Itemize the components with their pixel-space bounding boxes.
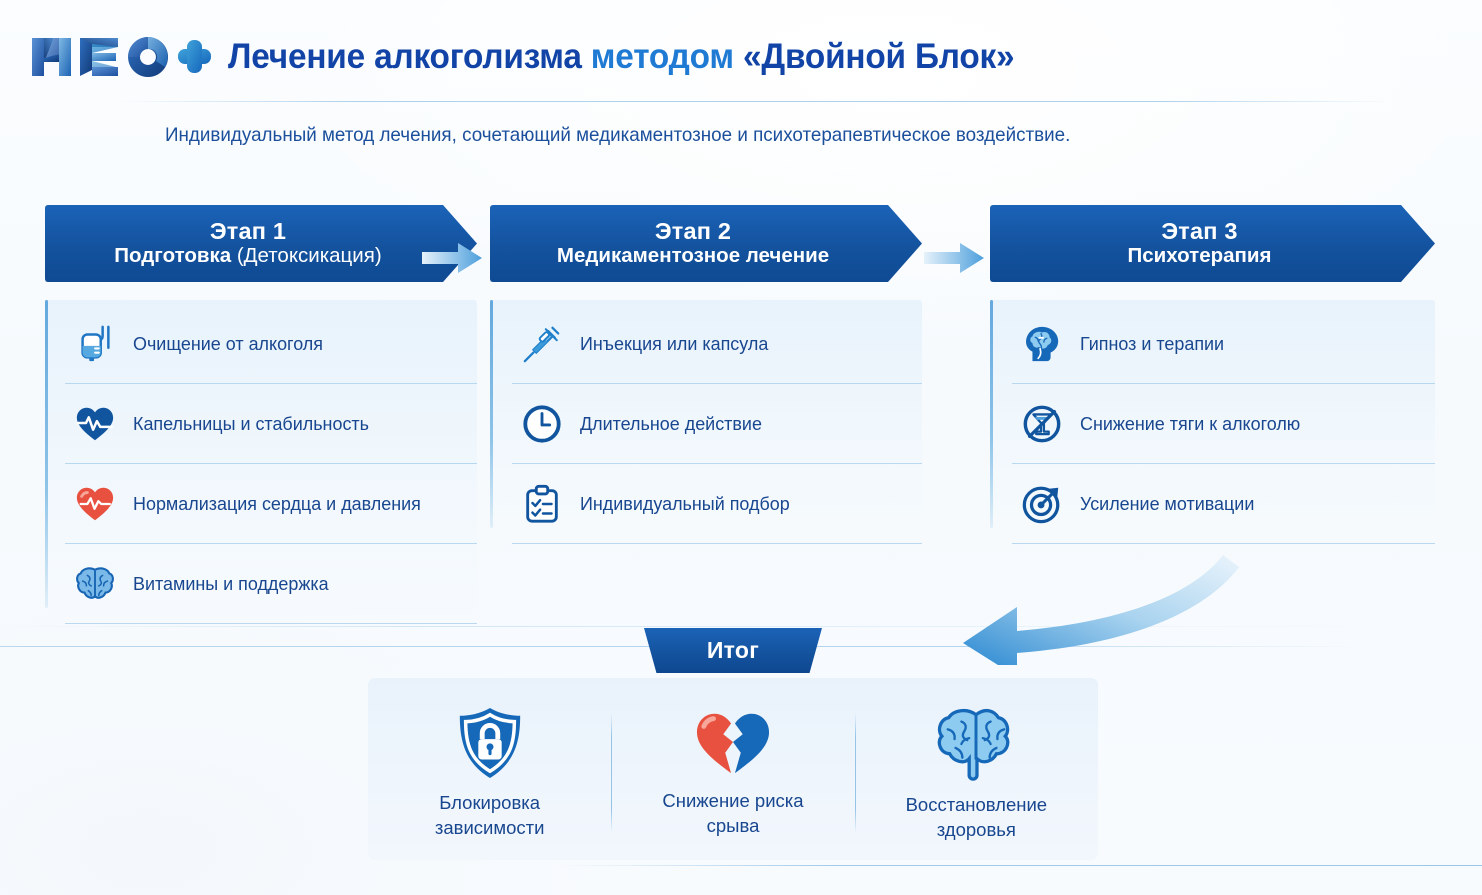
- brain-icon: [932, 705, 1020, 783]
- title-part-1: Лечение алкоголизма: [228, 36, 582, 76]
- list-item-label: Снижение тяги к алкоголю: [1080, 413, 1300, 435]
- list-item-label: Длительное действие: [580, 413, 762, 435]
- iv-drip-bag-icon: [73, 322, 117, 366]
- result-item-blocking[interactable]: Блокировка зависимости: [368, 699, 611, 839]
- stage-2-header[interactable]: Этап 2 Медикаментозное лечение: [490, 205, 922, 282]
- title-part-2: «Двойной Блок»: [743, 36, 1014, 76]
- stage-3-header[interactable]: Этап 3 Психотерапия: [990, 205, 1435, 282]
- decorative-rule-bottom: [560, 865, 1482, 866]
- stage-3-items: Гипноз и терапии Снижение тяги к алкогол…: [990, 300, 1435, 544]
- stage-2: Этап 2 Медикаментозное лечение: [490, 205, 922, 544]
- result-item-health-recovery[interactable]: Восстановление здоровья: [855, 699, 1098, 839]
- arrow-right-icon: [420, 238, 484, 278]
- title-accent-word: методом: [591, 36, 734, 76]
- heart-pulse-blue-icon: [73, 402, 117, 446]
- list-item-label: Капельницы и стабильность: [133, 413, 369, 435]
- header-divider: [120, 101, 1392, 102]
- stage-1-name: Подготовка (Детоксикация): [114, 244, 381, 268]
- result-section: Итог Блокировка зависимости: [368, 628, 1098, 860]
- list-item[interactable]: Нормализация сердца и давления: [65, 464, 477, 544]
- result-item-label: Восстановление здоровья: [906, 793, 1048, 843]
- stage-1-name-light: (Детоксикация): [237, 244, 382, 267]
- heart-pulse-red-icon: [73, 482, 117, 526]
- list-item[interactable]: Снижение тяги к алкоголю: [1012, 384, 1435, 464]
- clock-icon: [520, 402, 564, 446]
- list-item-label: Индивидуальный подбор: [580, 493, 790, 515]
- list-item[interactable]: Витамины и поддержка: [65, 544, 477, 624]
- stage-3: Этап 3 Психотерапия: [990, 205, 1435, 544]
- list-item-label: Нормализация сердца и давления: [133, 493, 421, 515]
- result-banner: Итог: [644, 628, 822, 673]
- no-alcohol-glass-icon: [1020, 402, 1064, 446]
- result-card: Блокировка зависимости Снижение риска ср…: [368, 678, 1098, 860]
- stage-3-number: Этап 3: [1161, 219, 1237, 244]
- stage-2-name: Медикаментозное лечение: [557, 244, 829, 268]
- list-item[interactable]: Очищение от алкоголя: [65, 304, 477, 384]
- stage-1-name-bold: Подготовка: [114, 244, 231, 267]
- syringe-icon: [520, 322, 564, 366]
- stage-1-number: Этап 1: [210, 219, 286, 244]
- page-subtitle: Индивидуальный метод лечения, сочетающий…: [165, 124, 1070, 147]
- list-item[interactable]: Инъекция или капсула: [512, 304, 922, 384]
- list-item-label: Витамины и поддержка: [133, 573, 329, 595]
- list-item[interactable]: Усиление мотивации: [1012, 464, 1435, 544]
- result-banner-label: Итог: [707, 637, 759, 664]
- result-item-label: Снижение риска срыва: [662, 789, 803, 839]
- neo-plus-logo-icon: [30, 32, 212, 82]
- page-title: Лечение алкоголизма методом «Двойной Бло…: [228, 39, 1014, 75]
- page-header: Лечение алкоголизма методом «Двойной Бло…: [30, 26, 1065, 88]
- arrow-right-icon: [922, 238, 986, 278]
- list-item[interactable]: Капельницы и стабильность: [65, 384, 477, 464]
- stage-1-items: Очищение от алкоголя Капельницы и стабил…: [45, 300, 477, 624]
- target-arrow-icon: [1020, 482, 1064, 526]
- head-brain-icon: [1020, 322, 1064, 366]
- result-item-relapse-risk[interactable]: Снижение риска срыва: [611, 699, 854, 839]
- list-item-label: Гипноз и терапии: [1080, 333, 1224, 355]
- infographic-canvas: Лечение алкоголизма методом «Двойной Бло…: [0, 0, 1482, 895]
- result-item-label: Блокировка зависимости: [435, 791, 545, 841]
- stage-2-number: Этап 2: [655, 219, 731, 244]
- list-item[interactable]: Индивидуальный подбор: [512, 464, 922, 544]
- brain-icon: [73, 562, 117, 606]
- list-item[interactable]: Длительное действие: [512, 384, 922, 464]
- clipboard-checklist-icon: [520, 482, 564, 526]
- stage-3-name: Психотерапия: [1128, 244, 1272, 268]
- list-item-label: Инъекция или капсула: [580, 333, 768, 355]
- broken-heart-icon: [692, 705, 774, 779]
- stage-1-header[interactable]: Этап 1 Подготовка (Детоксикация): [45, 205, 477, 282]
- shield-lock-icon: [453, 705, 527, 781]
- stage-2-items: Инъекция или капсула Длительное действие: [490, 300, 922, 544]
- list-item-label: Усиление мотивации: [1080, 493, 1254, 515]
- stage-1: Этап 1 Подготовка (Детоксикация): [45, 205, 477, 624]
- list-item[interactable]: Гипноз и терапии: [1012, 304, 1435, 384]
- list-item-label: Очищение от алкоголя: [133, 333, 323, 355]
